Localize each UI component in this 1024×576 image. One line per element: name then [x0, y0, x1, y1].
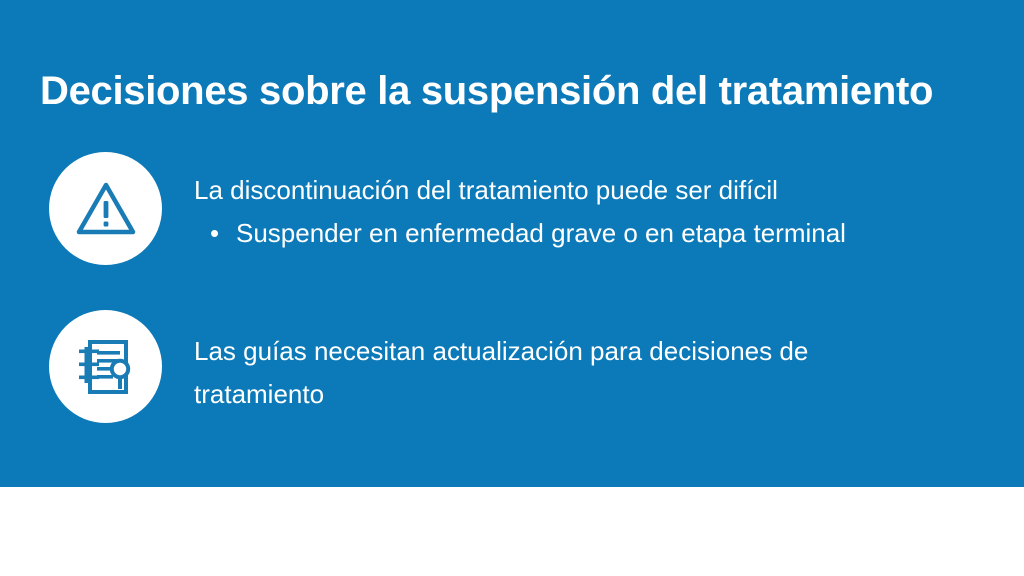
warning-icon-badge [49, 152, 162, 265]
warning-bullet-item: •Suspender en enfermedad grave o en etap… [194, 212, 914, 255]
page-title: Decisiones sobre la suspensión del trata… [40, 67, 980, 115]
slide: Decisiones sobre la suspensión del trata… [0, 0, 1024, 576]
guidelines-heading-line1: Las guías necesitan actualización para d… [194, 330, 914, 373]
slide-body: Decisiones sobre la suspensión del trata… [0, 0, 1024, 487]
warning-bullet-label: Suspender en enfermedad grave o en etapa… [236, 218, 846, 248]
warning-text-block: La discontinuación del tratamiento puede… [194, 169, 914, 255]
notepad-icon-badge [49, 310, 162, 423]
warning-heading: La discontinuación del tratamiento puede… [194, 169, 914, 212]
guidelines-heading-line2: tratamiento [194, 373, 914, 416]
bullet-dot-icon: • [210, 212, 236, 255]
guidelines-text-block: Las guías necesitan actualización para d… [194, 330, 914, 416]
slide-footer: National Institute for Health and Care E… [0, 487, 1024, 576]
